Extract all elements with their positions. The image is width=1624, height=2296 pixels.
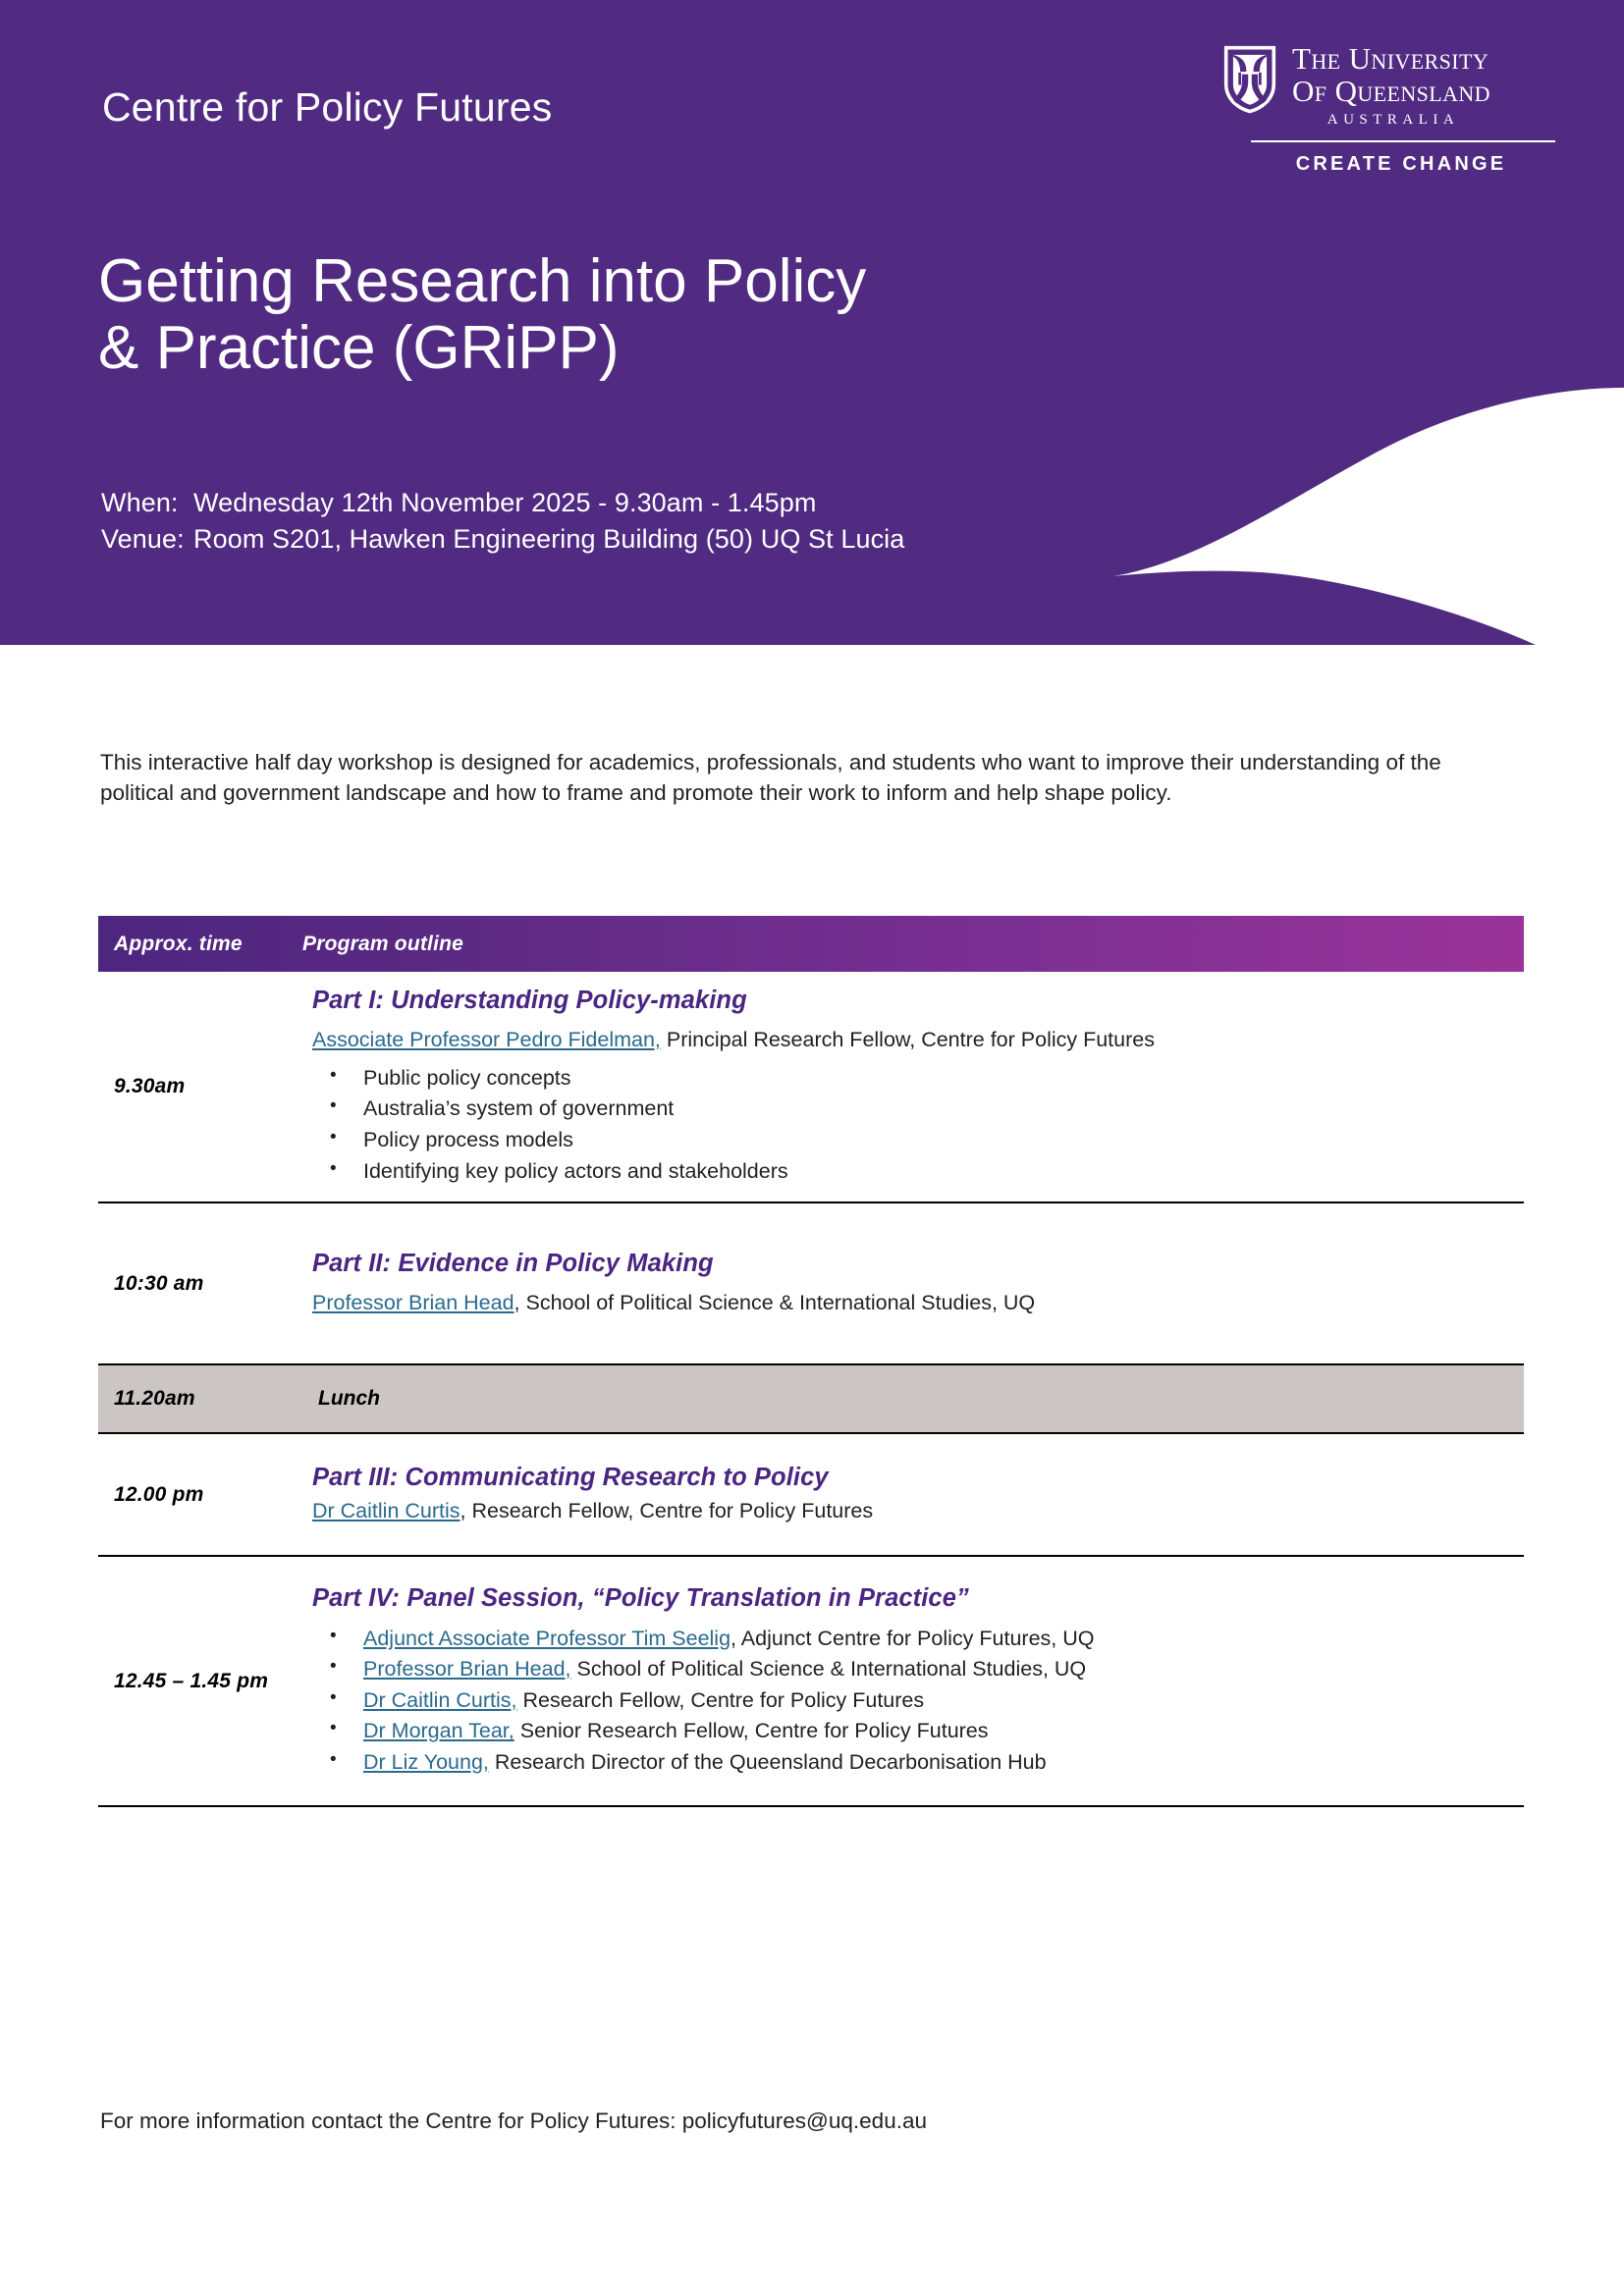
uq-tagline: CREATE CHANGE (1223, 153, 1555, 176)
footer-contact-line: For more information contact the Centre … (100, 2109, 927, 2134)
header-banner: Centre for Policy Futures Getting Resear… (0, 0, 1624, 645)
page-title: Getting Research into Policy & Practice … (98, 248, 866, 382)
list-item: Policy process models (312, 1125, 1514, 1156)
row-content: Lunch (312, 1387, 1524, 1411)
list-item: Adjunct Associate Professor Tim Seelig, … (312, 1624, 1514, 1655)
session-title: Part II: Evidence in Policy Making (312, 1250, 1514, 1278)
uq-wordmark-line-2: OF QUEENSLAND (1292, 76, 1490, 108)
intro-paragraph: This interactive half day workshop is de… (100, 747, 1455, 810)
panel-member-list: Adjunct Associate Professor Tim Seelig, … (312, 1624, 1514, 1779)
row-time: 10:30 am (98, 1272, 312, 1296)
row-time: 12.00 pm (98, 1483, 312, 1507)
session-title: Part III: Communicating Research to Poli… (312, 1464, 1514, 1492)
venue-value: Room S201, Hawken Engineering Building (… (193, 521, 904, 558)
panelist-link[interactable]: Professor Brian Head, (363, 1657, 571, 1681)
uq-logo-top: THE UNIVERSITY OF QUEENSLAND AUSTRALIA (1223, 43, 1555, 129)
presenter-link[interactable]: Dr Caitlin Curtis (312, 1499, 460, 1522)
row-content: Part III: Communicating Research to Poli… (312, 1464, 1524, 1525)
when-label: When: (101, 485, 193, 521)
panelist-link[interactable]: Dr Caitlin Curtis, (363, 1688, 517, 1712)
list-item: Australia’s system of government (312, 1094, 1514, 1125)
page-title-line-1: Getting Research into Policy (98, 248, 866, 315)
column-header-outline: Program outline (295, 933, 1524, 956)
list-item: Dr Morgan Tear, Senior Research Fellow, … (312, 1716, 1514, 1747)
when-value: Wednesday 12th November 2025 - 9.30am - … (193, 485, 816, 521)
row-content: Part I: Understanding Policy-making Asso… (312, 987, 1524, 1187)
table-row: 12.45 – 1.45 pm Part IV: Panel Session, … (98, 1557, 1524, 1807)
uq-shield-icon (1223, 45, 1276, 114)
uq-wordmark-line-1: THE UNIVERSITY (1292, 43, 1490, 76)
list-item: Dr Liz Young, Research Director of the Q… (312, 1747, 1514, 1779)
column-header-time: Approx. time (98, 933, 295, 956)
list-item: Identifying key policy actors and stakeh… (312, 1156, 1514, 1188)
event-venue-row: Venue: Room S201, Hawken Engineering Bui… (101, 521, 904, 558)
panelist-link[interactable]: Dr Morgan Tear, (363, 1719, 514, 1742)
row-time: 11.20am (98, 1387, 312, 1411)
row-content: Part II: Evidence in Policy Making Profe… (312, 1250, 1524, 1317)
page-title-line-2: & Practice (GRiPP) (98, 315, 866, 382)
row-content: Part IV: Panel Session, “Policy Translat… (312, 1584, 1524, 1779)
event-details: When: Wednesday 12th November 2025 - 9.3… (101, 485, 904, 559)
list-item: Professor Brian Head, School of Politica… (312, 1654, 1514, 1685)
program-table: Approx. time Program outline 9.30am Part… (98, 916, 1524, 1807)
panelist-link[interactable]: Dr Liz Young, (363, 1750, 489, 1774)
panelist-affiliation: School of Political Science & Internatio… (571, 1657, 1087, 1681)
lunch-label: Lunch (312, 1387, 380, 1410)
row-time: 12.45 – 1.45 pm (98, 1670, 312, 1693)
session-presenter: Associate Professor Pedro Fidelman, Prin… (312, 1026, 1514, 1054)
presenter-link[interactable]: Professor Brian Head (312, 1291, 514, 1314)
uq-logo: THE UNIVERSITY OF QUEENSLAND AUSTRALIA C… (1223, 43, 1555, 176)
uq-wordmark: THE UNIVERSITY OF QUEENSLAND AUSTRALIA (1292, 43, 1490, 129)
presenter-affiliation: Principal Research Fellow, Centre for Po… (661, 1028, 1155, 1051)
session-presenter: Professor Brian Head, School of Politica… (312, 1289, 1514, 1317)
session-title: Part IV: Panel Session, “Policy Translat… (312, 1584, 1514, 1613)
centre-brand-title: Centre for Policy Futures (102, 84, 552, 131)
table-row-lunch: 11.20am Lunch (98, 1363, 1524, 1434)
session-title: Part I: Understanding Policy-making (312, 987, 1514, 1015)
table-row: 10:30 am Part II: Evidence in Policy Mak… (98, 1203, 1524, 1363)
panelist-affiliation: Research Director of the Queensland Deca… (489, 1750, 1047, 1774)
session-presenter: Dr Caitlin Curtis, Research Fellow, Cent… (312, 1497, 1514, 1525)
event-when-row: When: Wednesday 12th November 2025 - 9.3… (101, 485, 904, 521)
table-row: 12.00 pm Part III: Communicating Researc… (98, 1434, 1524, 1557)
table-row: 9.30am Part I: Understanding Policy-maki… (98, 972, 1524, 1203)
panelist-affiliation: Senior Research Fellow, Centre for Polic… (514, 1719, 989, 1742)
presenter-link[interactable]: Associate Professor Pedro Fidelman, (312, 1028, 661, 1051)
program-table-header: Approx. time Program outline (98, 916, 1524, 972)
uq-country-label: AUSTRALIA (1292, 112, 1490, 129)
uq-divider-rule (1251, 140, 1555, 142)
presenter-affiliation: , School of Political Science & Internat… (514, 1291, 1036, 1314)
panelist-link[interactable]: Adjunct Associate Professor Tim Seelig (363, 1627, 731, 1650)
panelist-affiliation: Research Fellow, Centre for Policy Futur… (517, 1688, 925, 1712)
list-item: Public policy concepts (312, 1063, 1514, 1095)
presenter-affiliation: , Research Fellow, Centre for Policy Fut… (460, 1499, 874, 1522)
decorative-wave-shape (1113, 350, 1624, 645)
session-bullet-list: Public policy concepts Australia’s syste… (312, 1063, 1514, 1187)
row-time: 9.30am (98, 1075, 312, 1098)
panelist-affiliation: , Adjunct Centre for Policy Futures, UQ (731, 1627, 1094, 1650)
list-item: Dr Caitlin Curtis, Research Fellow, Cent… (312, 1685, 1514, 1717)
venue-label: Venue: (101, 521, 193, 558)
